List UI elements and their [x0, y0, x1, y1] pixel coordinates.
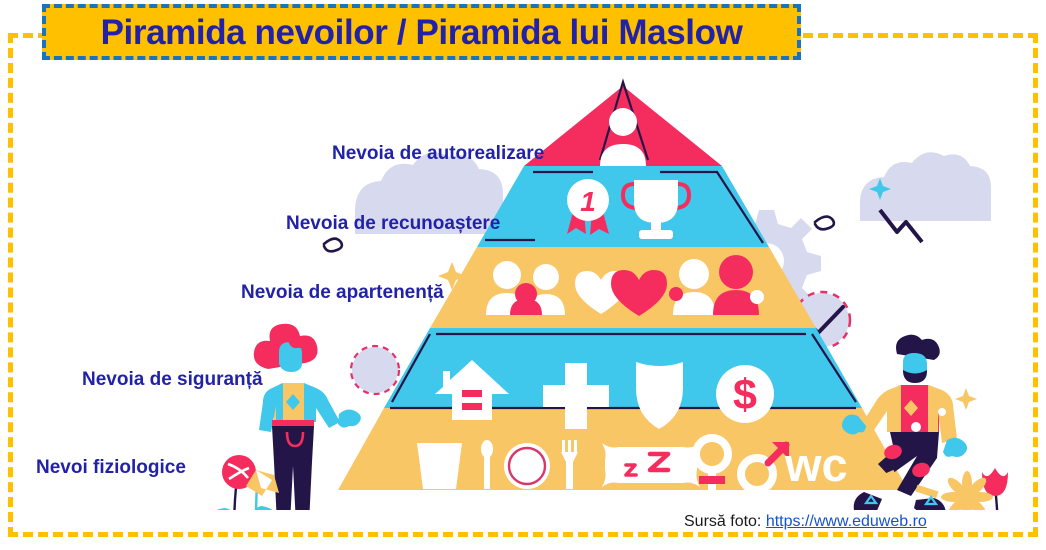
svg-text:1: 1 [580, 186, 596, 217]
photo-credit: Sursă foto: https://www.eduweb.ro [684, 513, 927, 531]
pyramid-level-esteem [477, 166, 769, 247]
level-label-safety: Nevoia de siguranță [82, 370, 263, 389]
level-label-belonging: Nevoia de apartenență [241, 283, 444, 302]
dashed-circle-icon [351, 346, 399, 394]
svg-text:$: $ [733, 371, 757, 419]
level-label-esteem: Nevoia de recunoaștere [286, 214, 500, 233]
page-title: Piramida nevoilor / Piramida lui Maslow [101, 15, 743, 50]
pillow-sleep-icon [602, 443, 700, 487]
squiggle-icon [324, 239, 342, 252]
slide-canvas: 1 [0, 0, 1046, 550]
credit-prefix: Sursă foto: [684, 513, 766, 530]
maslow-illustration: 1 [0, 60, 1046, 510]
squiggle-icon [815, 217, 834, 230]
dollar-circle-icon: $ [716, 365, 774, 423]
title-banner: Piramida nevoilor / Piramida lui Maslow [42, 4, 801, 60]
credit-link[interactable]: https://www.eduweb.ro [766, 513, 927, 530]
level-label-self-actualization: Nevoia de autorealizare [332, 144, 544, 163]
sparkle-icon [955, 388, 977, 410]
wc-text-icon: wc [784, 438, 848, 491]
flowers-left [207, 455, 279, 510]
flowers-right [941, 468, 1008, 510]
level-label-physiological: Nevoi fiziologice [36, 458, 186, 477]
water-glass-icon [417, 443, 462, 489]
